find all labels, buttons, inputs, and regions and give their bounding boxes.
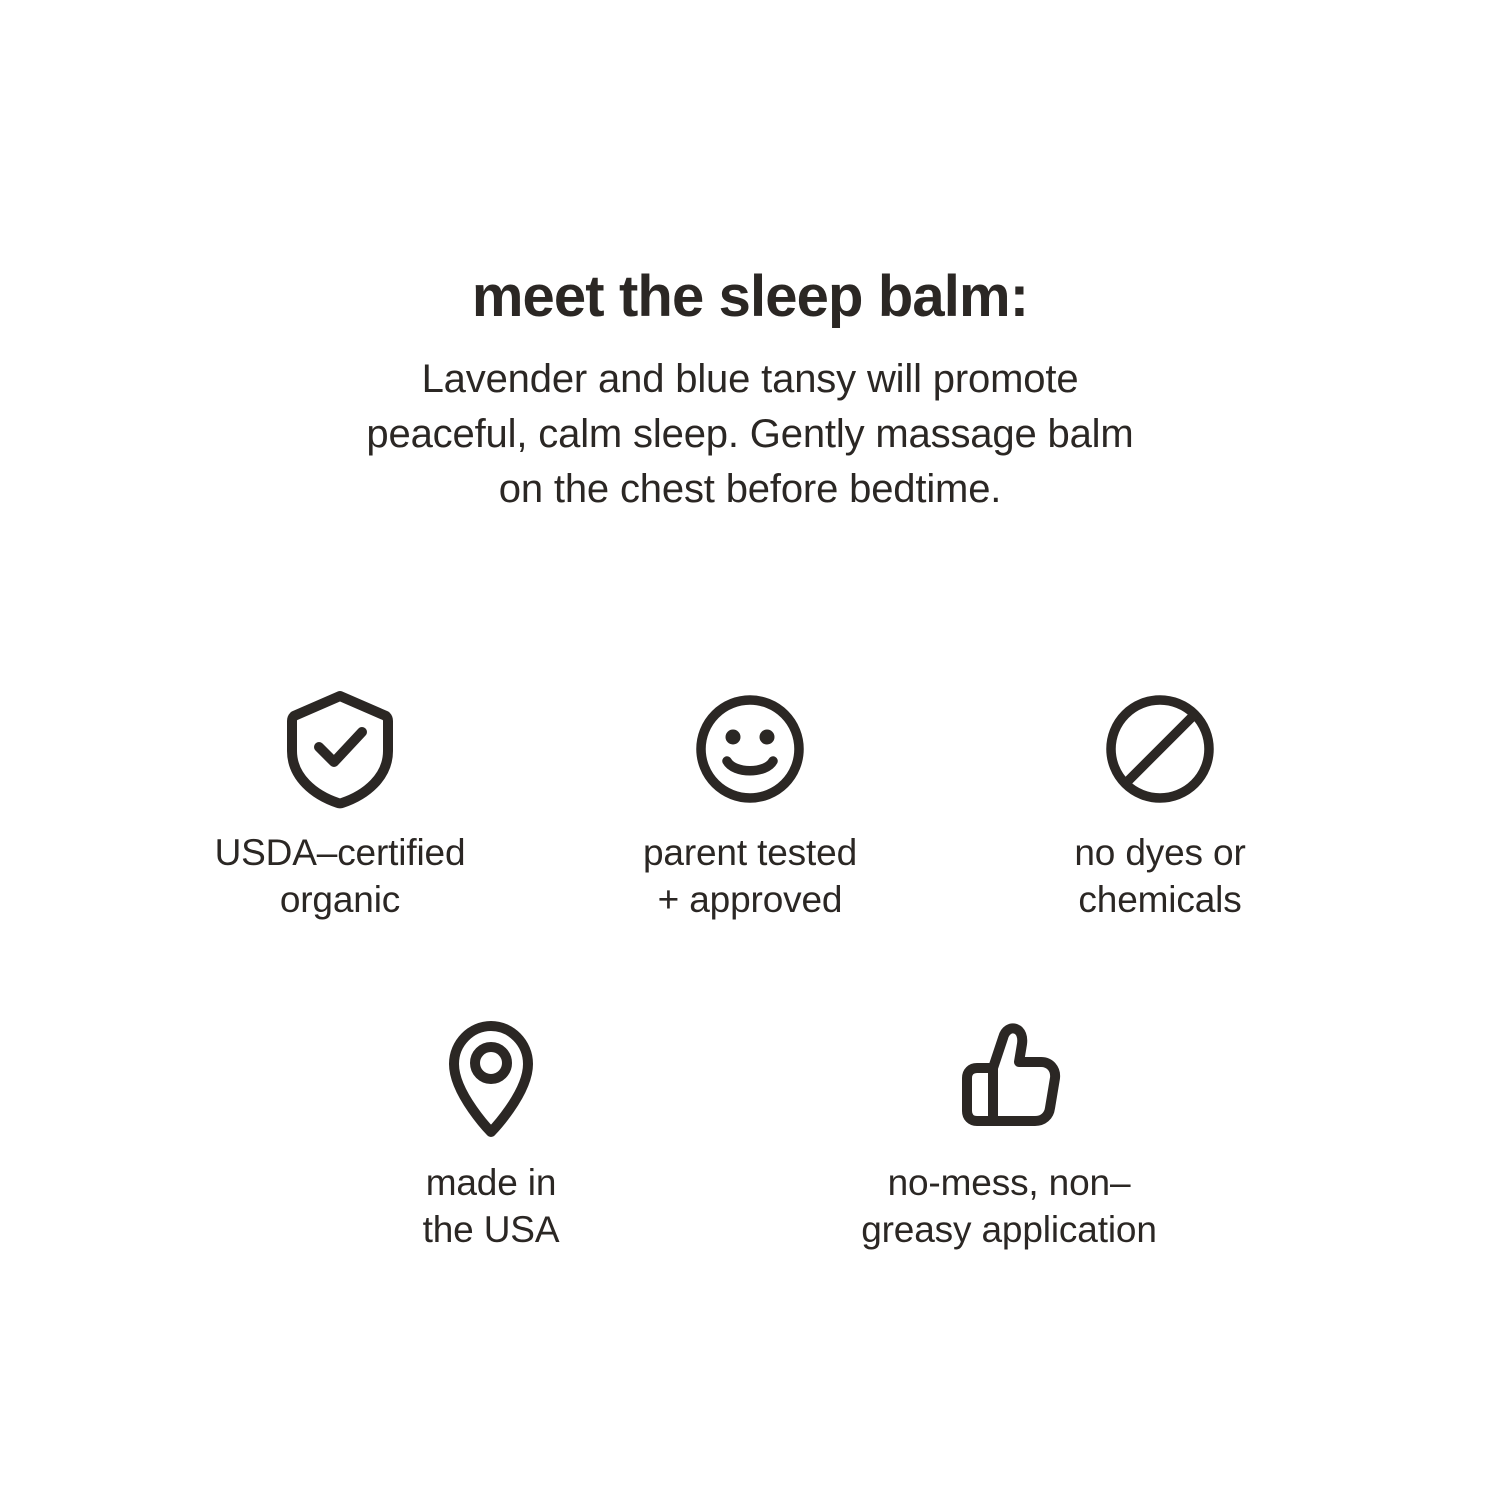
feature-label-line: organic <box>215 877 466 924</box>
feature-label: made in the USA <box>423 1160 560 1253</box>
header-block: meet the sleep balm: Lavender and blue t… <box>0 268 1500 518</box>
feature-label-line: USDA–certified <box>215 830 466 877</box>
shield-check-icon <box>284 690 396 808</box>
feature-no-dyes-or-chemicals: no dyes or chemicals <box>955 690 1365 923</box>
feature-label: no dyes or chemicals <box>1074 830 1245 923</box>
feature-made-in-the-usa: made in the USA <box>232 1020 750 1253</box>
feature-label-line: no dyes or <box>1074 830 1245 877</box>
description-line: on the chest before bedtime. <box>0 462 1500 517</box>
feature-usda-certified-organic: USDA–certified organic <box>135 690 545 923</box>
feature-label: USDA–certified organic <box>215 830 466 923</box>
page-title: meet the sleep balm: <box>0 268 1500 326</box>
description-line: Lavender and blue tansy will promote <box>0 352 1500 407</box>
smiley-face-icon <box>693 690 807 808</box>
prohibition-icon <box>1103 690 1217 808</box>
feature-label: no-mess, non– greasy application <box>861 1160 1157 1253</box>
feature-label-line: greasy application <box>861 1207 1157 1254</box>
map-pin-icon <box>443 1020 539 1138</box>
feature-parent-tested-approved: parent tested + approved <box>545 690 955 923</box>
feature-row-two: made in the USA no-mess, non– greasy app… <box>0 1020 1500 1253</box>
feature-no-mess-non-greasy: no-mess, non– greasy application <box>750 1020 1268 1253</box>
feature-label-line: no-mess, non– <box>861 1160 1157 1207</box>
feature-label-line: the USA <box>423 1207 560 1254</box>
feature-label-line: made in <box>423 1160 560 1207</box>
feature-row-one: USDA–certified organic parent tested + a… <box>0 690 1500 923</box>
product-benefits-panel: meet the sleep balm: Lavender and blue t… <box>0 0 1500 1500</box>
feature-label-line: + approved <box>643 877 857 924</box>
feature-label-line: parent tested <box>643 830 857 877</box>
thumbs-up-icon <box>955 1020 1063 1138</box>
feature-label-line: chemicals <box>1074 877 1245 924</box>
feature-label: parent tested + approved <box>643 830 857 923</box>
description-line: peaceful, calm sleep. Gently massage bal… <box>0 407 1500 462</box>
product-description: Lavender and blue tansy will promote pea… <box>0 352 1500 518</box>
